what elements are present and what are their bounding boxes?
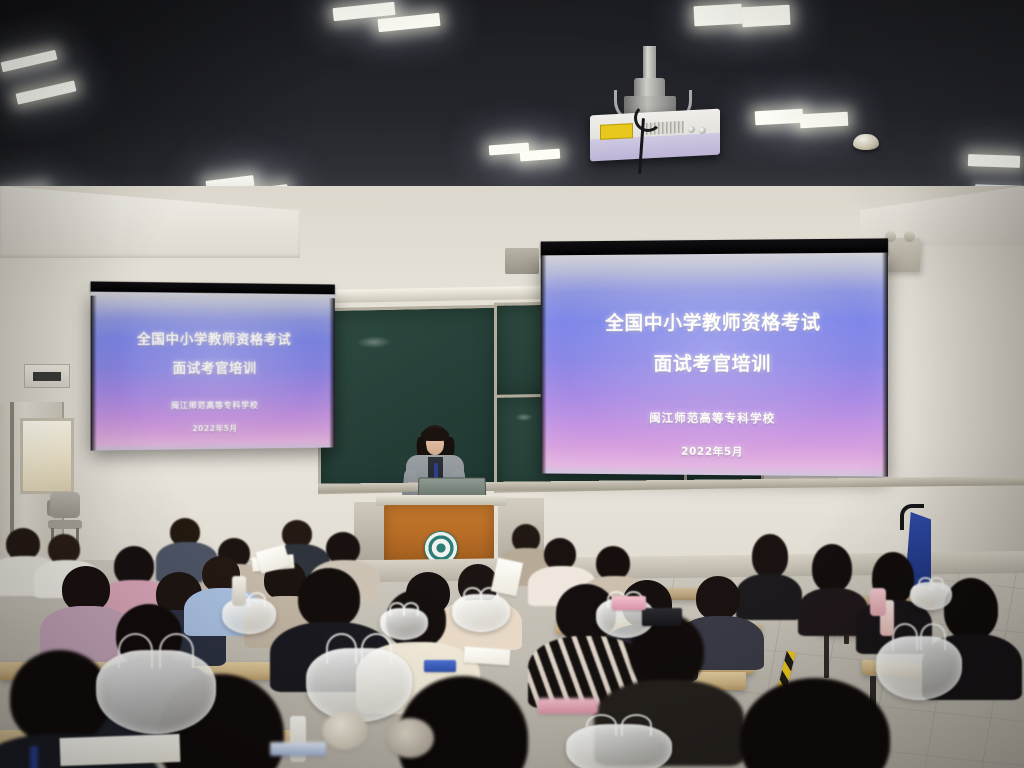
door-window	[20, 418, 74, 494]
ceiling-light-panel	[800, 112, 849, 128]
ceiling-light-panel	[755, 109, 804, 125]
ceiling-light-panel	[968, 154, 1020, 168]
plastic-bag	[566, 724, 672, 768]
screen-edge-right	[882, 253, 888, 477]
plastic-bag	[910, 582, 952, 610]
food-container	[386, 718, 434, 758]
desk-leg	[824, 634, 829, 678]
screen-edge-right	[329, 298, 335, 447]
ceiling-light-panel	[742, 5, 791, 27]
thermos-cup	[870, 588, 886, 616]
plastic-bag	[306, 648, 412, 722]
main-projection-screen: 全国中小学教师资格考试 面试考官培训 闽江师范高等专科学校 2022年5月	[541, 238, 888, 476]
projector-warning-label	[600, 123, 633, 140]
paper-sheet	[463, 646, 510, 665]
notebook	[612, 596, 646, 610]
notebook	[538, 698, 598, 714]
ceiling-projector	[580, 52, 730, 162]
slide-title-line-2: 面试考官培训	[653, 349, 771, 376]
food-container	[322, 712, 368, 750]
lectern-body	[384, 505, 494, 567]
slide-title-line-1: 全国中小学教师资格考试	[605, 308, 821, 336]
secondary-projection-screen: 全国中小学教师资格考试 面试考官培训 闽江师范高等专科学校 2022年5月	[91, 281, 335, 450]
id-card	[424, 660, 456, 672]
wall-speaker-left-icon	[505, 248, 539, 274]
slide-content: 全国中小学教师资格考试 面试考官培训 闽江师范高等专科学校 2022年5月	[91, 292, 335, 451]
screen-edge-left	[91, 296, 97, 451]
paper-sheet	[60, 734, 181, 766]
wall-sign-plaque	[24, 364, 70, 388]
beverage-bottle	[232, 576, 246, 606]
plastic-bag	[380, 608, 428, 640]
screen-canvas: 全国中小学教师资格考试 面试考官培训 闽江师范高等专科学校 2022年5月	[541, 253, 888, 477]
id-card	[270, 742, 326, 756]
screen-canvas: 全国中小学教师资格考试 面试考官培训 闽江师范高等专科学校 2022年5月	[91, 292, 335, 451]
slide-title-line-1: 全国中小学教师资格考试	[137, 328, 291, 349]
projector-cable-curl-icon	[634, 104, 662, 132]
projector-mount-pole	[643, 46, 656, 82]
slide-date: 2022年5月	[192, 423, 237, 434]
ceiling-light-panel	[694, 4, 743, 26]
slide-organization: 闽江师范高等专科学校	[171, 400, 258, 412]
plastic-bag	[876, 636, 962, 700]
pencil-case	[642, 608, 682, 626]
slide-title-line-2: 面试考官培训	[173, 357, 257, 377]
plastic-bag	[452, 594, 510, 632]
slide-content: 全国中小学教师资格考试 面试考官培训 闽江师范高等专科学校 2022年5月	[541, 253, 888, 477]
slide-date: 2022年5月	[681, 444, 743, 459]
plastic-bag	[222, 598, 276, 634]
plastic-bag	[96, 650, 216, 734]
slide-organization: 闽江师范高等专科学校	[649, 410, 775, 427]
screen-edge-left	[541, 255, 547, 473]
smoke-detector-icon	[853, 134, 879, 150]
ceiling-light-panel	[520, 149, 561, 162]
lecture-hall-photo: 全国中小学教师资格考试 面试考官培训 闽江师范高等专科学校 2022年5月 全国…	[0, 0, 1024, 768]
